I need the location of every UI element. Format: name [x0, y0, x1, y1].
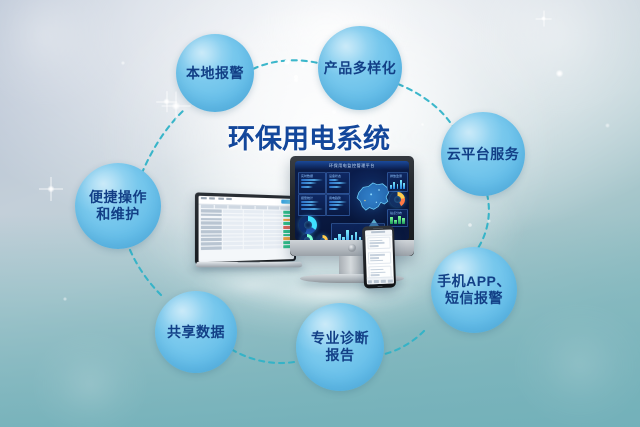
monitor-logo-icon	[348, 244, 356, 252]
dashboard-panel[interactable]: 站点分布	[387, 209, 408, 227]
bubble-product-diversity[interactable]: 产品多样化	[318, 26, 402, 110]
phone-app-title	[371, 231, 385, 233]
bubble-convenient-ops[interactable]: 便捷操作 和维护	[75, 163, 161, 249]
dashboard-panel[interactable]: 报警统计	[298, 194, 326, 216]
monitor-stand-neck	[339, 256, 365, 276]
phone-speaker	[373, 227, 383, 229]
table-row[interactable]	[200, 234, 291, 237]
list-item[interactable]	[367, 251, 390, 264]
table-row[interactable]	[200, 230, 291, 233]
bubble-mobile-app-sms[interactable]: 手机APP、 短信报警	[431, 247, 517, 333]
dashboard-panel[interactable]: 实时数据	[298, 172, 326, 194]
bubble-shared-data[interactable]: 共享数据	[155, 291, 237, 373]
panel-bars	[390, 178, 405, 189]
laptop-menu-icons[interactable]	[200, 197, 232, 200]
table-row[interactable]	[200, 222, 291, 225]
laptop-device	[196, 196, 302, 288]
bubble-label: 本地报警	[186, 65, 244, 82]
bubble-label: 共享数据	[167, 324, 225, 341]
bubble-label: 专业诊断 报告	[311, 330, 369, 363]
panel-label: 用电趋势	[329, 196, 341, 200]
panel-rows	[301, 201, 323, 213]
laptop-base	[195, 262, 303, 268]
diagram-canvas: 环保用电系统	[0, 0, 640, 427]
phone-alarm-list[interactable]	[367, 237, 391, 278]
bubble-cloud-platform[interactable]: 云平台服务	[441, 112, 525, 196]
panel-bars	[390, 214, 405, 224]
bubble-diagnostic-report[interactable]: 专业诊断 报告	[296, 303, 384, 391]
laptop-lid	[195, 192, 296, 264]
panel-label: 实时数据	[301, 174, 313, 178]
laptop-screen[interactable]	[198, 195, 294, 262]
bubble-label: 便捷操作 和维护	[89, 189, 147, 222]
phone-screen[interactable]	[365, 230, 394, 285]
laptop-trackpad-notch	[237, 262, 260, 263]
panel-label: 设备状态	[329, 174, 341, 178]
phone-appbar	[365, 230, 392, 237]
dashboard-gauge[interactable]	[299, 216, 317, 234]
sparkle	[330, 108, 338, 116]
panel-rows	[301, 179, 323, 191]
table-row[interactable]	[200, 218, 291, 222]
bubble-local-alarm[interactable]: 本地报警	[176, 34, 254, 112]
page-title: 环保用电系统	[228, 117, 390, 156]
dashboard-panel[interactable]: 排放监测	[387, 172, 408, 192]
list-item[interactable]	[367, 237, 390, 250]
phone-device	[362, 225, 396, 288]
monitor-chin	[290, 240, 414, 256]
table-row[interactable]	[200, 245, 291, 250]
bubble-label: 手机APP、 短信报警	[437, 273, 511, 306]
bubble-label: 产品多样化	[324, 60, 397, 77]
bubble-label: 云平台服务	[447, 146, 520, 163]
phone-frame	[362, 225, 396, 288]
phone-tab-bar[interactable]	[366, 277, 393, 285]
panel-label: 报警统计	[301, 196, 313, 200]
table-row[interactable]	[200, 226, 291, 229]
dashboard-gauge[interactable]	[390, 192, 405, 207]
sparkle	[170, 100, 182, 112]
phone-home-button[interactable]	[377, 286, 382, 288]
laptop-table-rows[interactable]	[200, 209, 291, 259]
